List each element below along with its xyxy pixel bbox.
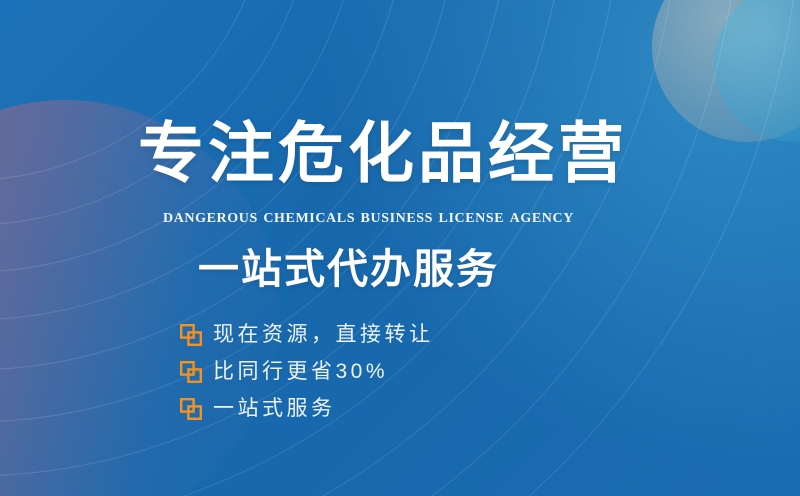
overlapping-squares-icon bbox=[180, 361, 202, 383]
overlapping-squares-icon bbox=[180, 324, 202, 346]
list-item: 比同行更省30% bbox=[180, 353, 434, 390]
english-subtitle: DANGEROUS CHEMICALS BUSINESS LICENSE AGE… bbox=[163, 205, 574, 229]
list-item-label: 比同行更省30% bbox=[213, 360, 388, 384]
list-item: 现在资源，直接转让 bbox=[180, 316, 434, 353]
banner-content: 专注危化品经营 DANGEROUS CHEMICALS BUSINESS LIC… bbox=[0, 0, 800, 496]
feature-list: 现在资源，直接转让 比同行更省30% 一站式服务 bbox=[180, 316, 434, 427]
list-item: 一站式服务 bbox=[180, 390, 434, 427]
overlapping-squares-icon bbox=[180, 398, 202, 420]
page-title: 专注危化品经营 bbox=[138, 116, 628, 190]
list-item-label: 现在资源，直接转让 bbox=[213, 323, 434, 347]
promo-banner: 专注危化品经营 DANGEROUS CHEMICALS BUSINESS LIC… bbox=[0, 0, 800, 496]
secondary-heading: 一站式代办服务 bbox=[198, 244, 499, 294]
list-item-label: 一站式服务 bbox=[213, 397, 336, 421]
